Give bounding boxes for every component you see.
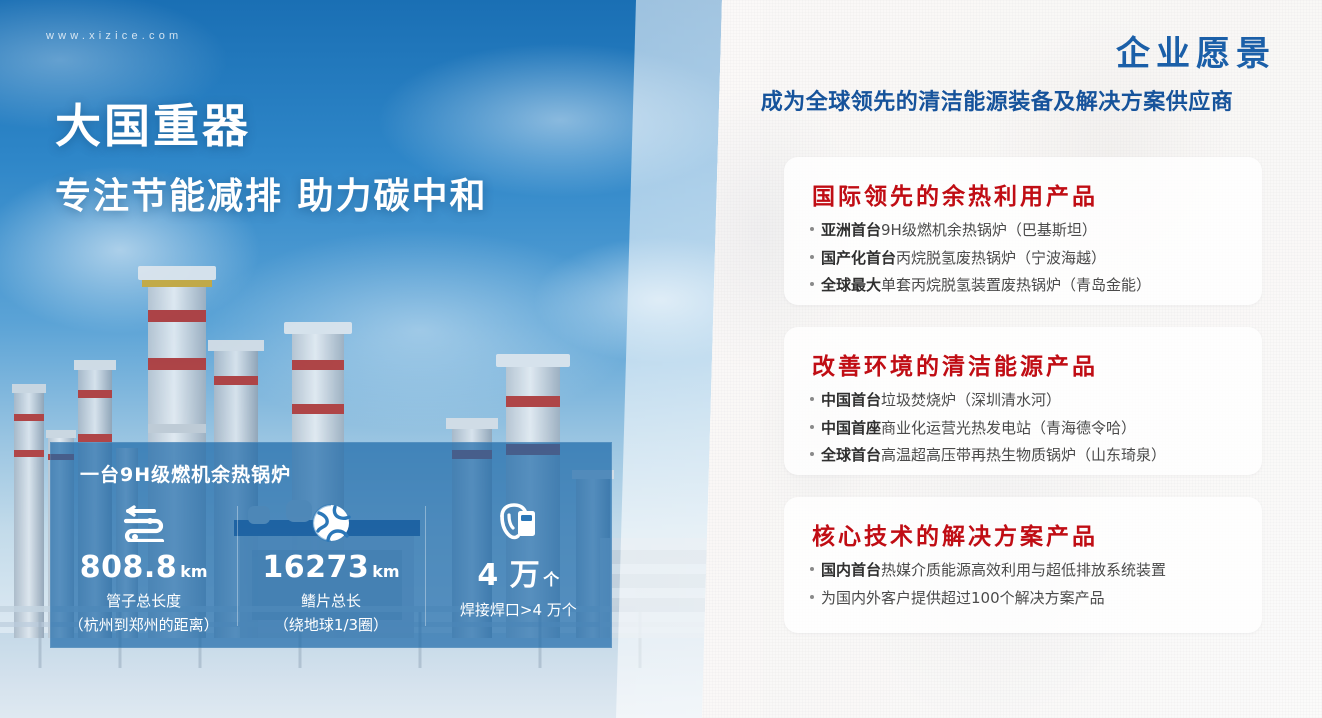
page-title: 企业愿景 [1116, 26, 1276, 75]
headline-line-1: 大国重器 [55, 100, 655, 153]
globe-icon [310, 500, 352, 546]
bullet-dot-icon [810, 567, 814, 571]
list-item: 国内首台热媒介质能源高效利用与超低排放系统装置 [810, 559, 1248, 582]
bullet-strong: 国产化首台 [821, 249, 896, 267]
stat-label-line2: （绕地球1/3圈） [274, 614, 388, 635]
stat-unit: km [372, 562, 399, 581]
stat-value: 4 万个 [477, 550, 559, 594]
bullet-dot-icon [810, 255, 814, 259]
stat-number: 4 万 [477, 558, 540, 593]
list-item: 国产化首台丙烷脱氢废热锅炉（宁波海越） [810, 247, 1248, 270]
card-bullet-list: 国内首台热媒介质能源高效利用与超低排放系统装置 为国内外客户提供超过100个解决… [810, 559, 1248, 614]
stat-number: 808.8 [80, 550, 177, 585]
card-title: 核心技术的解决方案产品 [812, 517, 1098, 551]
bullet-rest: 热媒介质能源高效利用与超低排放系统装置 [881, 561, 1166, 579]
bullet-strong: 中国首台 [821, 391, 881, 409]
right-content-panel: 企业愿景 成为全球领先的清洁能源装备及解决方案供应商 国际领先的余热利用产品 亚… [700, 0, 1322, 718]
hero-headline: 大国重器 专注节能减排 助力碳中和 [55, 100, 655, 218]
site-watermark: www.xizice.com [46, 30, 182, 42]
bullet-strong: 全球最大 [821, 276, 881, 294]
card-bullet-list: 中国首台垃圾焚烧炉（深圳清水河） 中国首座商业化运营光热发电站（青海德令哈） 全… [810, 389, 1248, 472]
list-item: 亚洲首台9H级燃机余热锅炉（巴基斯坦） [810, 219, 1248, 242]
stat-value: 808.8km [80, 550, 208, 585]
stat-item-fin-length: 16273km 鳍片总长 （绕地球1/3圈） [237, 500, 424, 648]
stat-unit: km [180, 562, 207, 581]
stats-panel-title: 一台9H级燃机余热锅炉 [80, 460, 291, 487]
bullet-dot-icon [810, 397, 814, 401]
card-bullet-list: 亚洲首台9H级燃机余热锅炉（巴基斯坦） 国产化首台丙烷脱氢废热锅炉（宁波海越） … [810, 219, 1248, 302]
bullet-rest: 丙烷脱氢废热锅炉（宁波海越） [896, 249, 1106, 267]
left-photo-panel: www.xizice.com 大国重器 专注节能减排 助力碳中和 一台9H级燃机… [0, 0, 760, 718]
list-item: 全球最大单套丙烷脱氢装置废热锅炉（青岛金能） [810, 274, 1248, 297]
stat-label-line1: 焊接焊口>4 万个 [460, 599, 577, 620]
list-item: 中国首座商业化运营光热发电站（青海德令哈） [810, 417, 1248, 440]
stat-label-line1: 鳍片总长 [301, 590, 361, 611]
slide-root: www.xizice.com 大国重器 专注节能减排 助力碳中和 一台9H级燃机… [0, 0, 1322, 718]
stats-row: 808.8km 管子总长度 （杭州到郑州的距离） [50, 500, 612, 648]
bullet-strong: 国内首台 [821, 561, 881, 579]
bullet-strong: 亚洲首台 [821, 221, 881, 239]
bullet-strong: 全球首台 [821, 446, 881, 464]
stat-item-weld-joints: 4 万个 焊接焊口>4 万个 [425, 500, 612, 648]
bullet-dot-icon [810, 282, 814, 286]
vision-card-2: 改善环境的清洁能源产品 中国首台垃圾焚烧炉（深圳清水河） 中国首座商业化运营光热… [784, 327, 1262, 475]
stat-unit: 个 [543, 570, 559, 589]
bullet-rest: 高温超高压带再热生物质锅炉（山东琦泉） [881, 446, 1166, 464]
bullet-rest: 垃圾焚烧炉（深圳清水河） [881, 391, 1061, 409]
bullet-rest: 单套丙烷脱氢装置废热锅炉（青岛金能） [881, 276, 1151, 294]
list-item: 全球首台高温超高压带再热生物质锅炉（山东琦泉） [810, 444, 1248, 467]
bullet-rest: 为国内外客户提供超过100个解决方案产品 [821, 589, 1105, 607]
bullet-dot-icon [810, 452, 814, 456]
stat-value: 16273km [262, 550, 399, 585]
pipe-icon [118, 500, 170, 546]
stat-number: 16273 [262, 550, 369, 585]
bullet-dot-icon [810, 227, 814, 231]
stat-item-pipe-length: 808.8km 管子总长度 （杭州到郑州的距离） [50, 500, 237, 648]
card-title: 改善环境的清洁能源产品 [812, 347, 1098, 381]
headline-line-2: 专注节能减排 助力碳中和 [55, 175, 655, 218]
bullet-strong: 中国首座 [821, 419, 881, 437]
list-item: 为国内外客户提供超过100个解决方案产品 [810, 587, 1248, 610]
bullet-dot-icon [810, 595, 814, 599]
bullet-rest: 商业化运营光热发电站（青海德令哈） [881, 419, 1136, 437]
welding-mask-icon [496, 500, 540, 546]
stat-label-line2: （杭州到郑州的距离） [69, 614, 219, 635]
bullet-rest: 9H级燃机余热锅炉（巴基斯坦） [881, 221, 1097, 239]
list-item: 中国首台垃圾焚烧炉（深圳清水河） [810, 389, 1248, 412]
stat-label-line1: 管子总长度 [106, 590, 181, 611]
bullet-dot-icon [810, 425, 814, 429]
vision-card-1: 国际领先的余热利用产品 亚洲首台9H级燃机余热锅炉（巴基斯坦） 国产化首台丙烷脱… [784, 157, 1262, 305]
vision-card-3: 核心技术的解决方案产品 国内首台热媒介质能源高效利用与超低排放系统装置 为国内外… [784, 497, 1262, 633]
card-title: 国际领先的余热利用产品 [812, 177, 1098, 211]
stats-panel: 一台9H级燃机余热锅炉 808.8km [50, 442, 612, 648]
page-subtitle: 成为全球领先的清洁能源装备及解决方案供应商 [700, 84, 1294, 116]
